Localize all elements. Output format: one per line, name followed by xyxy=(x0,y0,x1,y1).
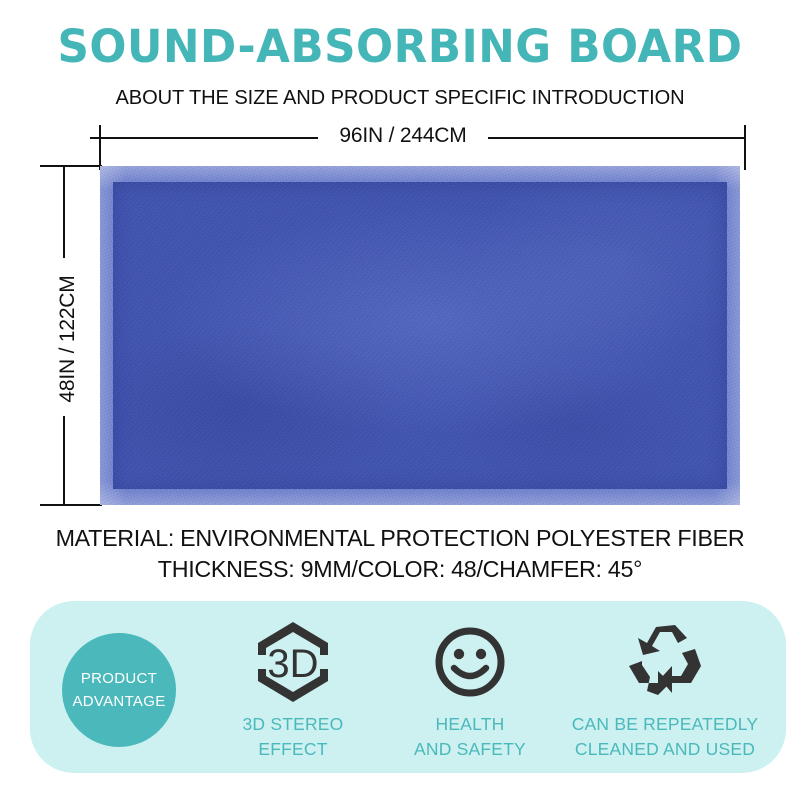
recycle-icon xyxy=(625,618,705,706)
badge-line-1: PRODUCT xyxy=(81,667,157,690)
feature-3d-stereo-effect: 3D 3D STEREO EFFECT xyxy=(200,618,386,762)
feature-clean-caption: CAN BE REPEATEDLY CLEANED AND USED xyxy=(572,712,759,762)
feature-3d-caption-line-1: 3D STEREO xyxy=(243,712,344,737)
board-face xyxy=(113,182,727,489)
svg-text:3D: 3D xyxy=(267,642,318,686)
smiley-face-icon xyxy=(432,618,508,706)
spec-material: MATERIAL: ENVIRONMENTAL PROTECTION POLYE… xyxy=(4,525,796,552)
height-dimension-tick-bottom xyxy=(40,504,102,506)
feature-3d-caption-line-2: EFFECT xyxy=(243,737,344,762)
page-subtitle: ABOUT THE SIZE AND PRODUCT SPECIFIC INTR… xyxy=(8,86,792,110)
feature-clean-caption-line-1: CAN BE REPEATEDLY xyxy=(572,712,759,737)
width-dimension-tick-left xyxy=(99,125,101,170)
feature-repeatedly-cleaned: CAN BE REPEATEDLY CLEANED AND USED xyxy=(550,618,780,762)
badge-line-2: ADVANTAGE xyxy=(73,690,166,713)
3d-hexagon-icon: 3D xyxy=(250,618,336,706)
product-advantage-badge: PRODUCT ADVANTAGE xyxy=(62,633,176,747)
infographic-canvas: SOUND-ABSORBING BOARD ABOUT THE SIZE AND… xyxy=(0,0,800,800)
sound-absorbing-board-image xyxy=(100,166,740,505)
feature-clean-caption-line-2: CLEANED AND USED xyxy=(572,737,759,762)
feature-health-caption-line-2: AND SAFETY xyxy=(414,737,526,762)
spec-details: THICKNESS: 9MM/COLOR: 48/CHAMFER: 45° xyxy=(4,556,796,583)
feature-health-and-safety: HEALTH AND SAFETY xyxy=(377,618,563,762)
height-dimension-label: 48IN / 122CM xyxy=(56,249,80,429)
feature-3d-caption: 3D STEREO EFFECT xyxy=(243,712,344,762)
feature-health-caption: HEALTH AND SAFETY xyxy=(414,712,526,762)
page-title: SOUND-ABSORBING BOARD xyxy=(12,20,788,73)
feature-health-caption-line-1: HEALTH xyxy=(414,712,526,737)
height-dimension-tick-top xyxy=(40,165,102,167)
width-dimension-tick-right xyxy=(744,125,746,170)
width-dimension-label: 96IN / 244CM xyxy=(310,124,496,148)
board-fiber-texture xyxy=(113,182,727,489)
